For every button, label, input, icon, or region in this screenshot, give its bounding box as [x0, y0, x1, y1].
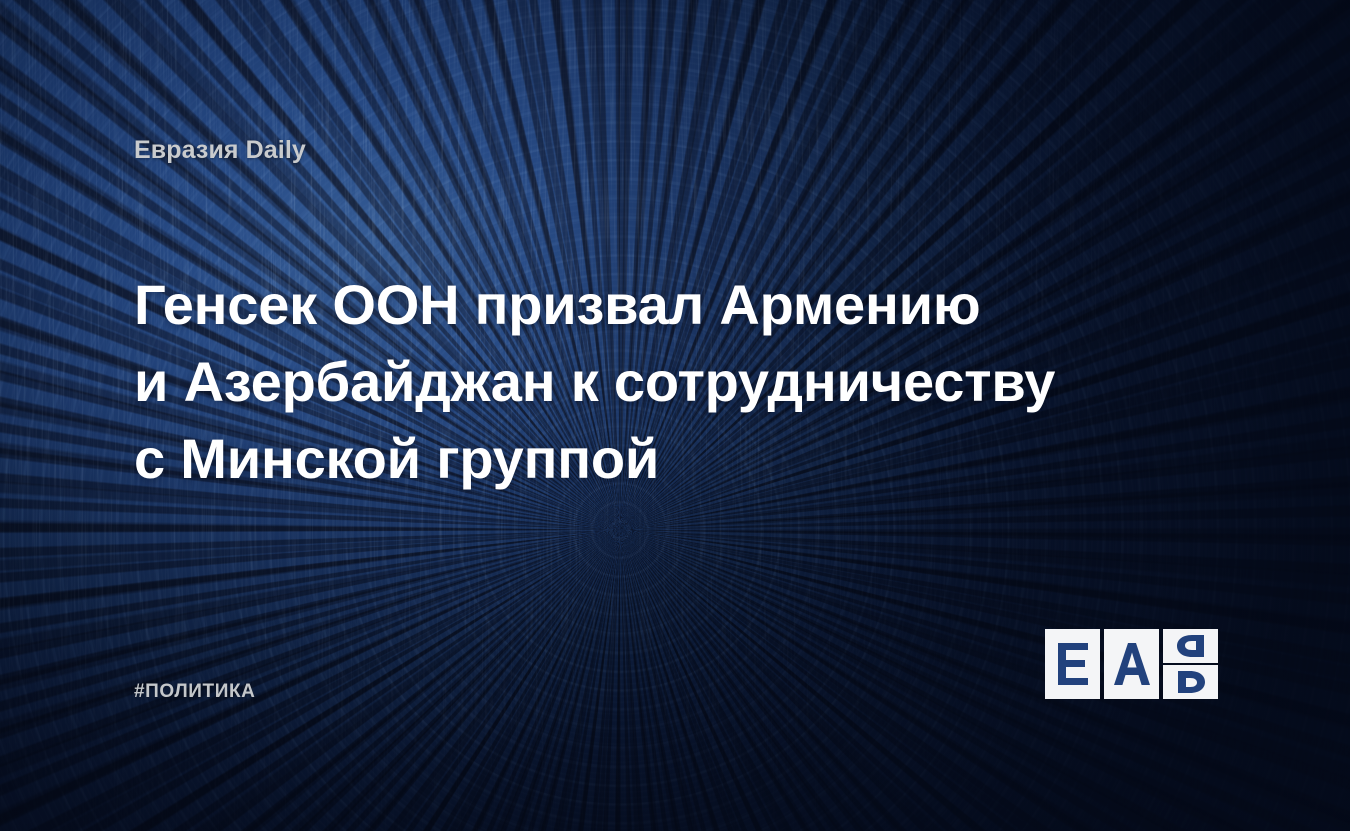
logo-tile-d-top: [1163, 629, 1218, 663]
card-content: Евразия Daily Генсек ООН призвал Армению…: [0, 0, 1350, 831]
headline-line-3: с Минской группой: [134, 420, 1134, 497]
letter-d-icon: [1176, 670, 1206, 694]
headline: Генсек ООН призвал Армению и Азербайджан…: [134, 266, 1134, 497]
letter-e-icon: [1056, 642, 1090, 686]
brand-name: Евразия Daily: [134, 136, 306, 165]
letter-d-rotated-icon: [1176, 634, 1206, 658]
eadaily-logo[interactable]: [1045, 629, 1218, 699]
letter-a-icon: [1113, 642, 1151, 686]
headline-line-1: Генсек ООН призвал Армению: [134, 266, 1134, 343]
logo-tile-stack-d: [1163, 629, 1218, 699]
logo-tile-d-bottom: [1163, 665, 1218, 699]
logo-tile-a: [1104, 629, 1159, 699]
headline-line-2: и Азербайджан к сотрудничеству: [134, 343, 1134, 420]
logo-tile-e: [1045, 629, 1100, 699]
category-tag[interactable]: #ПОЛИТИКА: [134, 681, 256, 703]
news-share-card: Евразия Daily Генсек ООН призвал Армению…: [0, 0, 1350, 831]
